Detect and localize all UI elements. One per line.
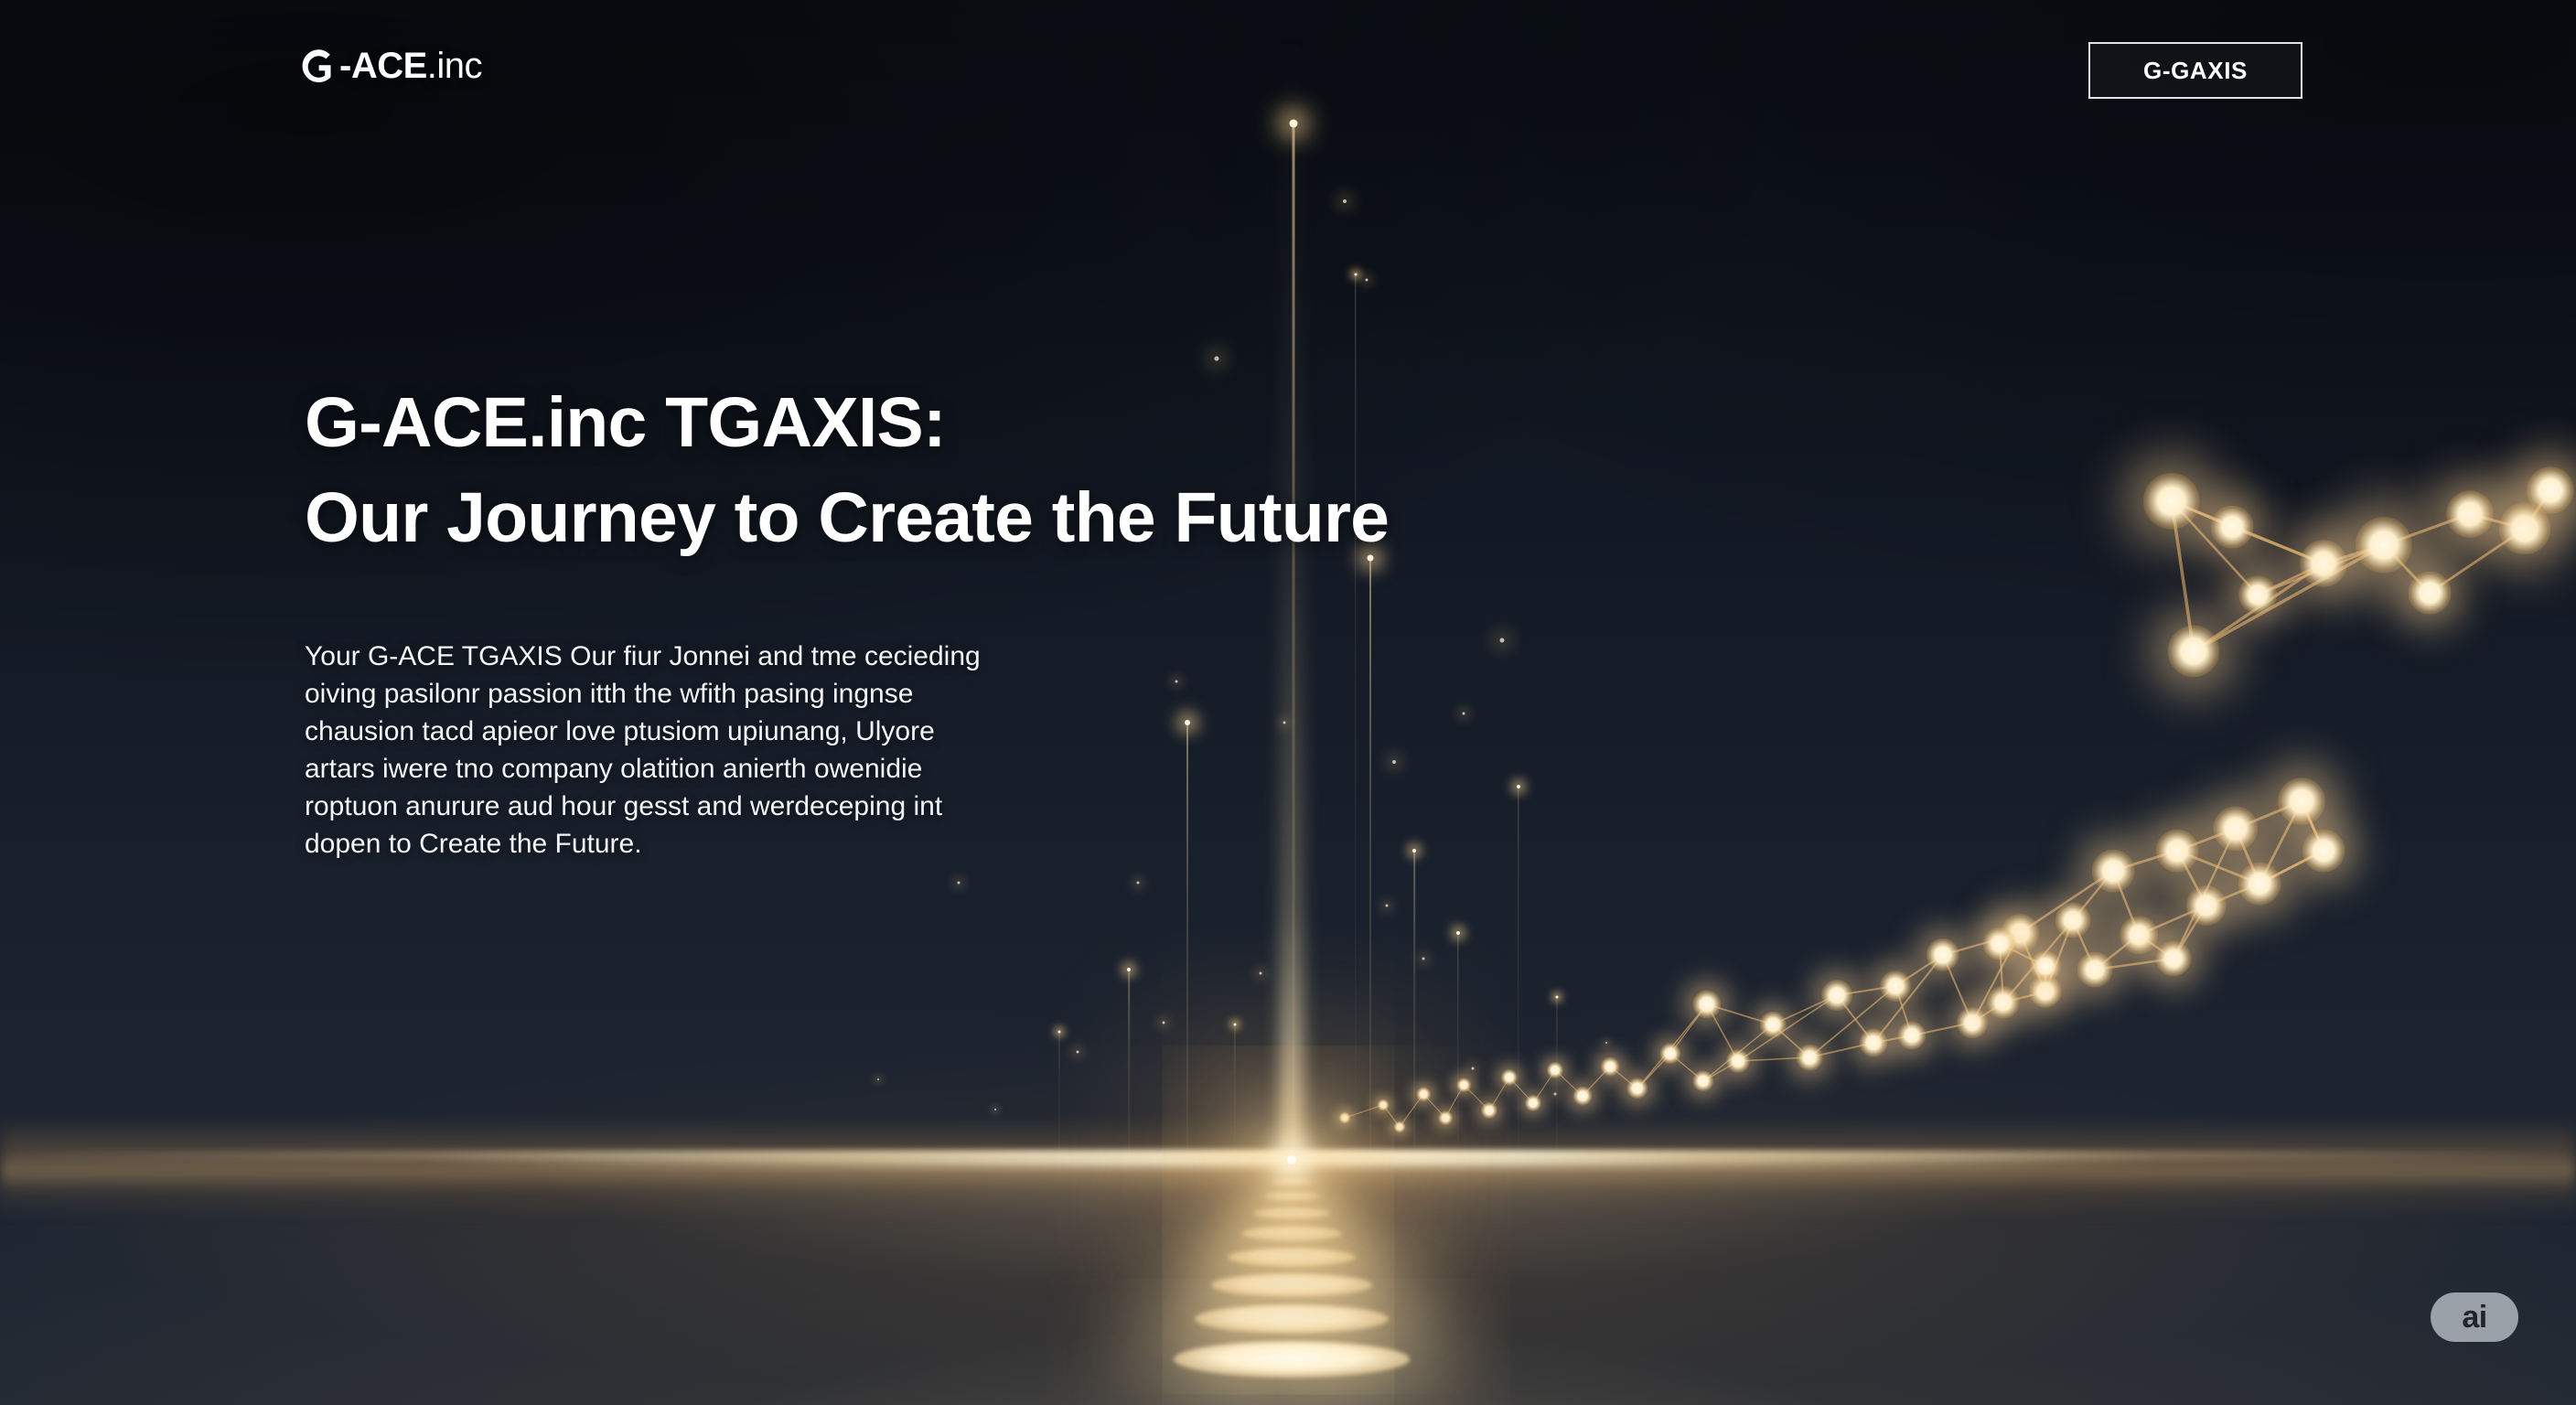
network-node	[2527, 467, 2574, 514]
hero-slide: -ACE .inc G-GAXIS G-ACE.inc TGAXIS: Our …	[0, 0, 2576, 1405]
light-spark	[1185, 720, 1190, 725]
light-spark	[1556, 996, 1559, 999]
light-spark	[1517, 785, 1520, 788]
stair-ring	[1241, 1226, 1342, 1241]
light-trail	[1457, 933, 1458, 1160]
light-dust	[877, 1078, 879, 1080]
network-node	[2077, 952, 2113, 988]
network-node	[1859, 1028, 1887, 1056]
light-trail	[1413, 851, 1415, 1160]
stair-ring	[1280, 1166, 1304, 1172]
network-node	[1501, 1069, 1518, 1086]
network-node	[1339, 1112, 1351, 1124]
network-node	[1601, 1057, 1620, 1077]
g-ace-logo-icon	[300, 48, 339, 86]
light-spark	[1456, 931, 1460, 935]
network-node	[1692, 990, 1721, 1018]
light-trail	[1518, 787, 1519, 1160]
light-trail	[1293, 123, 1295, 1154]
network-node	[2238, 575, 2277, 614]
network-node	[2302, 830, 2345, 873]
headline-line-2: Our Journey to Create the Future	[305, 470, 1389, 565]
network-node	[2498, 502, 2550, 554]
light-spark	[1355, 273, 1358, 276]
body-line: roptuon anurure aud hour gesst and werde…	[305, 788, 1128, 825]
network-node	[1987, 986, 2020, 1019]
stair-ring	[1174, 1341, 1410, 1378]
body-line: dopen to Create the Future.	[305, 825, 1128, 863]
network-node	[2001, 914, 2039, 952]
light-spark	[1412, 849, 1416, 853]
horizon-glow	[0, 1118, 2576, 1218]
light-trail	[1058, 1032, 1059, 1167]
ai-badge-label: ai	[2462, 1300, 2486, 1335]
light-dust	[1472, 1067, 1475, 1070]
light-trail	[1234, 1024, 1235, 1164]
network-node	[1547, 1062, 1563, 1078]
light-trail	[1556, 997, 1557, 1167]
network-node	[1456, 1078, 1471, 1092]
light-trail	[1369, 558, 1371, 1154]
light-dust	[1283, 722, 1286, 724]
network-node	[1525, 1095, 1541, 1111]
burst-ray-vertical	[1280, 26, 1304, 1160]
light-dust	[958, 882, 961, 885]
network-node	[2143, 473, 2200, 530]
network-node	[1797, 1045, 1823, 1071]
network-node	[2238, 863, 2281, 906]
stair-ring	[1263, 1192, 1320, 1201]
network-node	[1726, 1049, 1750, 1073]
horizon-core-line	[0, 1151, 2576, 1160]
network-node	[1626, 1078, 1648, 1099]
light-dust	[1343, 199, 1347, 203]
body-line: oiving pasilonr passion itth the wfith p…	[305, 675, 1128, 713]
stair-ring	[1272, 1178, 1312, 1185]
light-dust	[1386, 905, 1389, 907]
stair-ring	[1211, 1273, 1372, 1297]
network-node	[2213, 806, 2258, 851]
network-node	[2092, 850, 2135, 893]
light-burst-core	[1287, 1155, 1296, 1164]
network-node	[1760, 1012, 1787, 1038]
light-dust	[1463, 713, 1465, 715]
light-dust	[1077, 1051, 1079, 1054]
network-node	[1927, 938, 1959, 971]
light-dust	[1422, 958, 1425, 960]
network-node	[2156, 830, 2199, 873]
light-dust	[1163, 1022, 1165, 1024]
light-dust	[1137, 882, 1140, 885]
ground-sheen	[0, 1160, 2576, 1405]
light-dust	[1500, 638, 1505, 643]
light-dust	[1392, 760, 1396, 764]
body-line: chausion tacd apieor love ptusiom upiuna…	[305, 713, 1128, 750]
network-node	[2156, 941, 2192, 977]
nav-button-g-gaxis[interactable]: G-GAXIS	[2088, 42, 2302, 99]
burst-ray-horizontal	[423, 1153, 2161, 1167]
network-node	[1481, 1102, 1497, 1119]
light-spark	[1234, 1024, 1237, 1026]
logo-text-suffix: .inc	[427, 46, 482, 87]
light-dust	[1215, 357, 1219, 361]
nav-button-label: G-GAXIS	[2143, 57, 2248, 85]
light-dust	[1260, 972, 1262, 975]
network-node	[1438, 1110, 1453, 1125]
network-node	[1573, 1087, 1593, 1106]
network-node	[2120, 916, 2158, 954]
light-trail	[1186, 723, 1188, 1154]
light-dust	[1175, 681, 1178, 683]
network-node	[1983, 928, 2016, 960]
body-line: artars iwere tno company olatition anier…	[305, 750, 1128, 788]
light-dust	[1554, 1093, 1557, 1096]
light-spark	[1290, 120, 1298, 128]
body-line: Your G-ACE TGAXIS Our fiur Jonnei and tm…	[305, 638, 1128, 675]
logo-text-main: -ACE	[339, 46, 427, 87]
network-node	[2356, 517, 2412, 574]
stair-ring	[1228, 1248, 1356, 1267]
network-node	[1957, 1007, 1988, 1038]
light-spark	[1127, 968, 1131, 971]
network-node	[1378, 1099, 1390, 1111]
network-node	[2211, 506, 2254, 549]
stair-ring	[1253, 1207, 1330, 1219]
network-node	[1897, 1021, 1926, 1049]
brand-logo[interactable]: -ACE .inc	[300, 46, 482, 87]
network-node	[2029, 975, 2062, 1008]
headline-line-1: G-ACE.inc TGAXIS:	[305, 375, 1389, 470]
page-title: G-ACE.inc TGAXIS: Our Journey to Create …	[305, 375, 1389, 565]
network-node	[2055, 903, 2091, 938]
network-node	[2409, 572, 2452, 615]
network-node	[2186, 885, 2227, 926]
light-trail	[1128, 970, 1130, 1160]
network-node	[2030, 950, 2061, 981]
hero-body-copy: Your G-ACE TGAXIS Our fiur Jonnei and tm…	[305, 638, 1128, 863]
network-node	[2167, 625, 2219, 677]
stair-ring	[1195, 1304, 1389, 1334]
network-node	[1692, 1070, 1713, 1091]
light-dust	[1605, 1042, 1607, 1044]
network-node	[1880, 971, 1911, 1002]
network-node	[2300, 540, 2347, 587]
network-node	[1394, 1121, 1406, 1133]
network-node	[1416, 1087, 1431, 1101]
network-node	[2278, 778, 2325, 825]
light-spark	[1058, 1031, 1061, 1034]
light-dust	[1366, 279, 1368, 282]
network-node	[2446, 490, 2494, 538]
network-node	[1821, 980, 1852, 1011]
light-dust	[994, 1109, 996, 1110]
ai-badge[interactable]: ai	[2431, 1292, 2518, 1342]
network-node	[1659, 1043, 1680, 1064]
